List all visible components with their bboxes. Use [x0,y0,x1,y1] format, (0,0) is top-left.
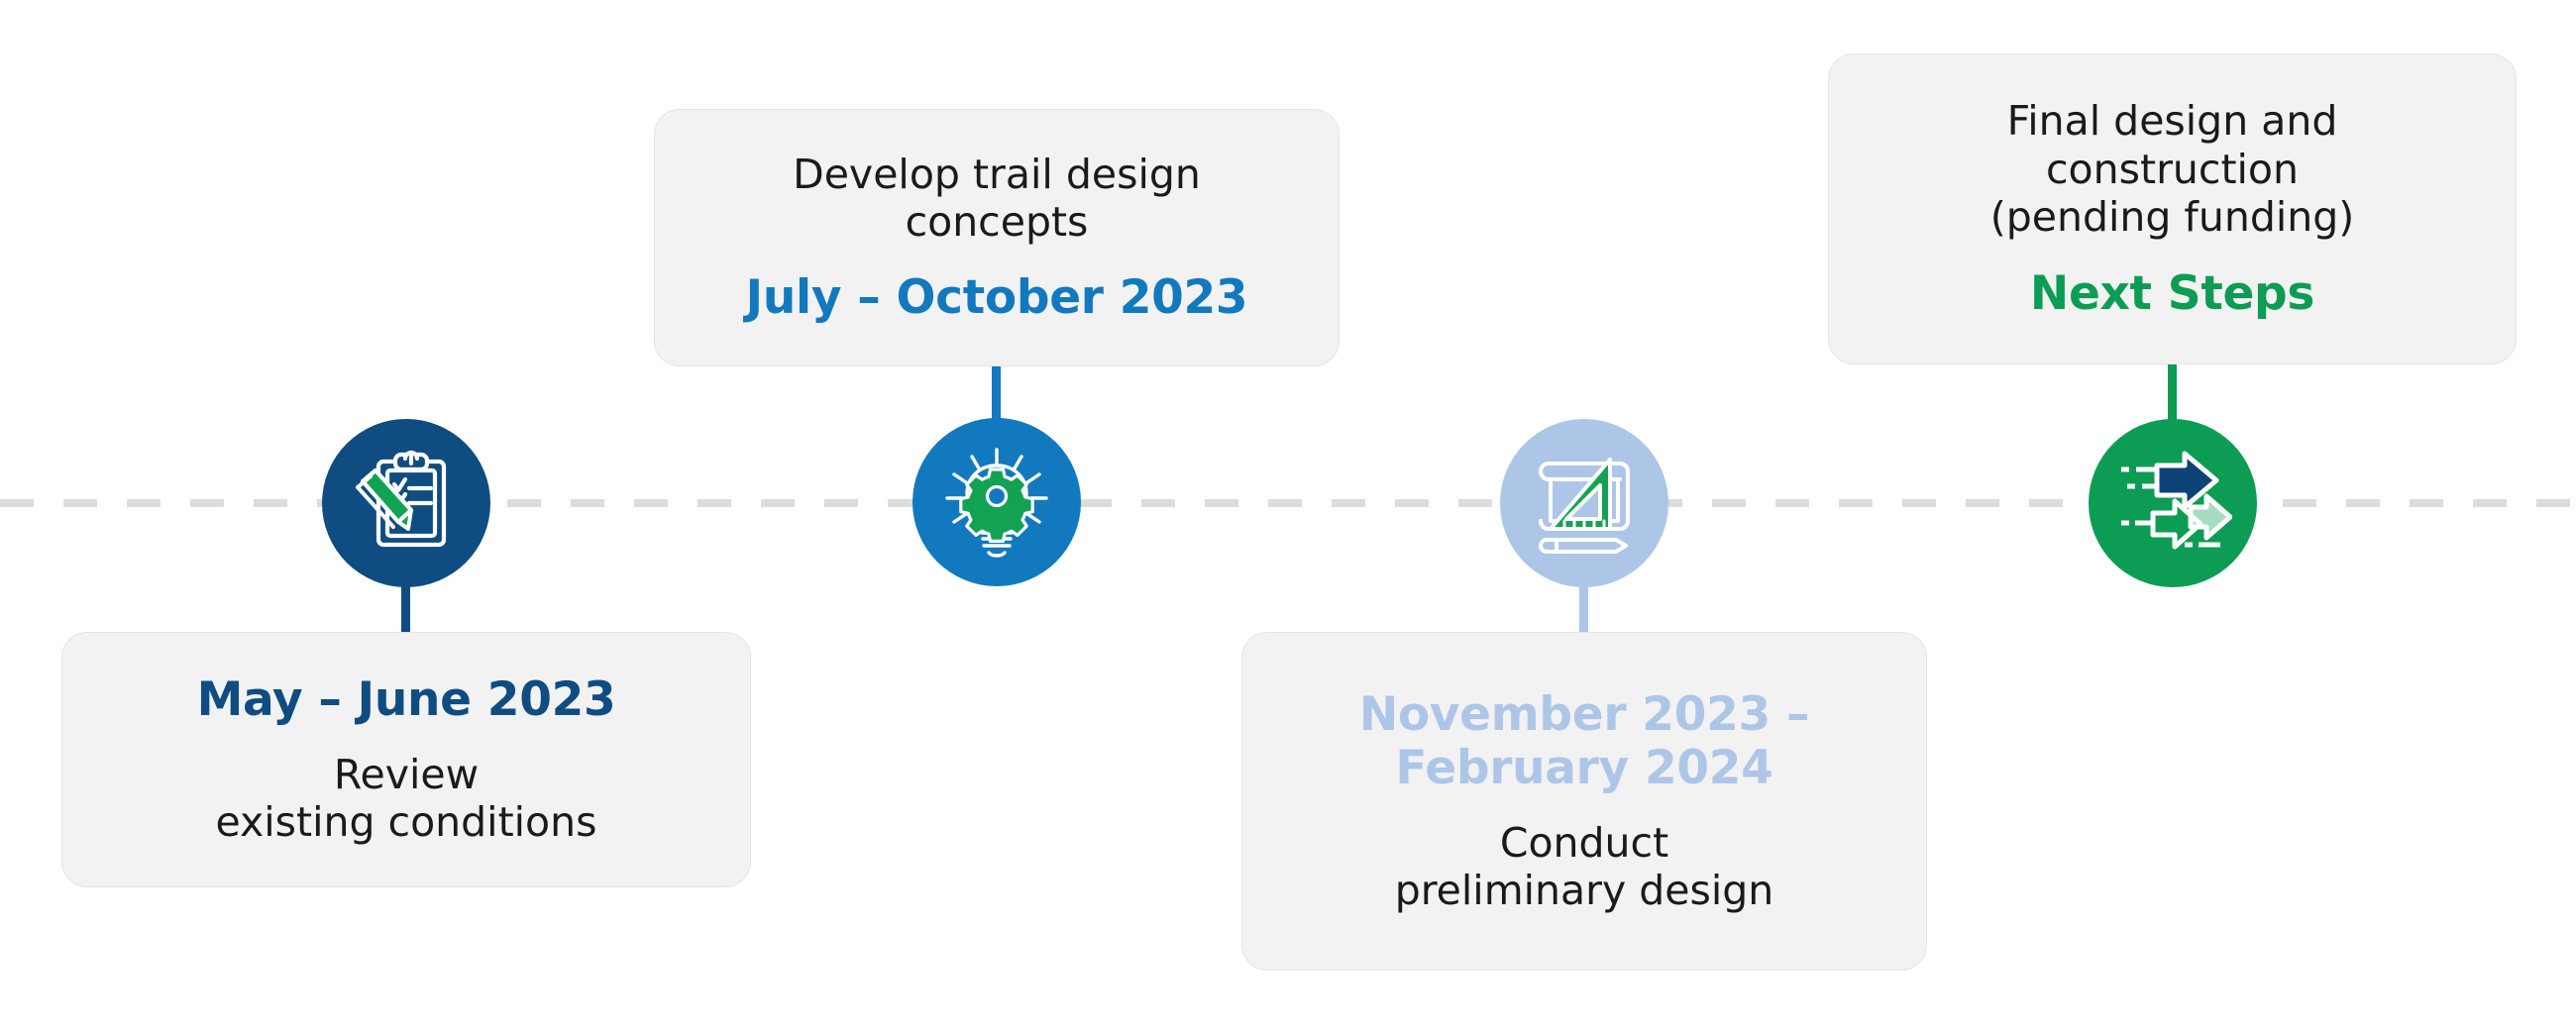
timeline-axis-dash [1078,499,1112,507]
timeline-axis-dash [2410,499,2443,507]
timeline-axis-dash [507,499,541,507]
lightbulb-gear-icon [938,444,1055,561]
timeline-axis-dash [190,499,224,507]
milestone-description-1: Review existing conditions [216,751,597,847]
timeline-axis-dash [2473,499,2507,507]
timeline-axis-dash [1966,499,1999,507]
milestone-date-3: November 2023 – February 2024 [1359,688,1809,795]
milestone-description-3: Conduct preliminary design [1395,819,1774,915]
timeline-axis-dash [1839,499,1873,507]
milestone-card-conduct-preliminary-design[interactable]: November 2023 – February 2024 Conduct pr… [1241,632,1927,971]
timeline-axis-dash [1141,499,1175,507]
clipboard-checklist-pencil-icon [352,449,461,558]
timeline-axis-dash [1332,499,1365,507]
timeline-axis-dash [761,499,795,507]
timeline-diagram: May – June 2023 Review existing conditio… [0,0,2576,1030]
timeline-axis-dash [1712,499,1746,507]
milestone-date-4: Next Steps [2030,267,2314,321]
milestone-marker-2[interactable] [912,418,1081,586]
milestone-marker-4[interactable] [2089,419,2257,587]
timeline-axis-dash [127,499,161,507]
timeline-axis-dash [1395,499,1429,507]
timeline-axis-dash [0,499,34,507]
timeline-axis-dash [63,499,97,507]
timeline-axis-dash [1205,499,1238,507]
three-arrows-forward-icon [2113,446,2232,561]
timeline-axis-dash [1902,499,1936,507]
timeline-axis-dash [571,499,604,507]
timeline-axis-dash [1458,499,1492,507]
timeline-axis-dash [824,499,858,507]
milestone-marker-1[interactable] [322,419,490,587]
timeline-axis-dash [2283,499,2316,507]
timeline-axis-dash [2029,499,2063,507]
timeline-axis-dash [254,499,287,507]
milestone-description-4: Final design and construction (pending f… [1990,97,2355,241]
timeline-axis-dash [1775,499,1809,507]
milestone-date-2: July – October 2023 [746,271,1248,325]
milestone-description-2: Develop trail design concepts [793,151,1201,247]
milestone-card-final-design-and-construction[interactable]: Final design and construction (pending f… [1828,53,2517,364]
timeline-axis-dash [698,499,731,507]
timeline-axis-dash [2346,499,2380,507]
milestone-date-1: May – June 2023 [197,673,616,727]
timeline-axis-dash [1268,499,1302,507]
timeline-axis-dash [634,499,668,507]
milestone-card-review-existing-conditions[interactable]: May – June 2023 Review existing conditio… [61,632,751,887]
milestone-card-develop-trail-design-concepts[interactable]: Develop trail design concepts July – Oct… [654,109,1340,366]
milestone-marker-3[interactable] [1500,419,1668,587]
timeline-axis-dash [2536,499,2570,507]
blueprint-triangle-ruler-icon [1527,446,1642,561]
